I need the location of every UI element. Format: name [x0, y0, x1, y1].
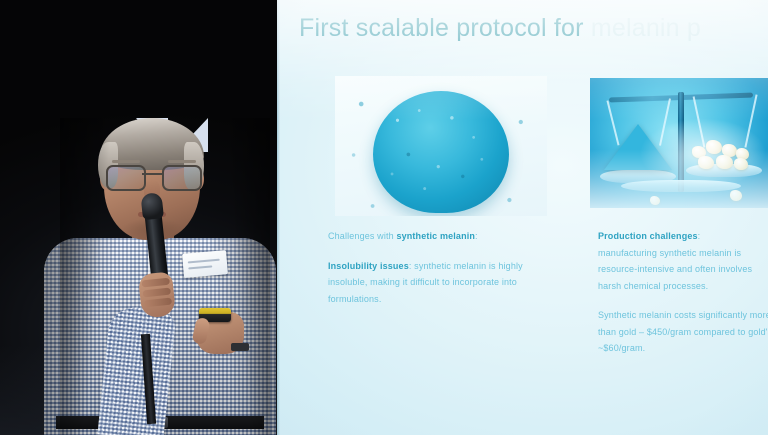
presentation-photo: First scalable protocol for melanin p [0, 0, 768, 435]
right-column-heading: Production challenges:manufacturing synt… [598, 228, 768, 294]
right-paragraph-2-wrap: Synthetic melanin costs significantly mo… [598, 307, 768, 357]
slide-title: First scalable protocol for melanin p [299, 14, 701, 43]
speaker [60, 118, 270, 435]
left-heading-prefix: Challenges with [328, 231, 396, 241]
badge-text-line [188, 265, 212, 269]
right-heading-suffix: : [698, 231, 701, 241]
synthetic-melanin-powder-photo [335, 76, 547, 216]
finger [142, 288, 171, 298]
left-heading-bold: synthetic melanin [396, 231, 475, 241]
screen-left-edge [277, 0, 280, 435]
powder-grain-texture [373, 91, 509, 213]
badge-text-line [188, 259, 220, 264]
slide-title-main: First scalable protocol for [299, 14, 584, 42]
slide-left-column: Challenges with synthetic melanin: Insol… [328, 228, 538, 320]
wristwatch [231, 343, 249, 351]
slide-right-column: Production challenges:manufacturing synt… [598, 228, 768, 370]
speaker-right-arm [97, 305, 176, 435]
left-heading-suffix: : [475, 231, 478, 241]
finger [143, 298, 172, 308]
eyebrow-left [112, 160, 140, 163]
left-column-body: Insolubility issues: synthetic melanin i… [328, 258, 538, 308]
projection-screen: First scalable protocol for melanin p [277, 0, 768, 435]
sleeve-check-pattern [97, 305, 176, 435]
right-paragraph-1: manufacturing synthetic melanin is resou… [598, 248, 752, 291]
name-badge [182, 250, 228, 278]
eyeglass-lens-left [106, 165, 146, 191]
eyeglass-lens-right [162, 165, 202, 191]
finger [141, 278, 170, 288]
left-column-heading: Challenges with synthetic melanin: [328, 228, 538, 245]
eyebrow-right [168, 160, 196, 163]
screen-vignette [277, 0, 768, 435]
slide-title-faded: melanin p [584, 14, 701, 42]
right-heading-bold: Production challenges [598, 231, 698, 241]
powder-pile [373, 91, 509, 213]
left-body-bold: Insolubility issues [328, 261, 409, 271]
right-paragraph-2: Synthetic melanin costs significantly mo… [598, 310, 768, 353]
balance-scale-photo [590, 78, 768, 208]
scale-photo-haze [590, 78, 768, 208]
hand-holding-microphone [138, 271, 176, 318]
eyeglass-bridge [142, 173, 162, 175]
